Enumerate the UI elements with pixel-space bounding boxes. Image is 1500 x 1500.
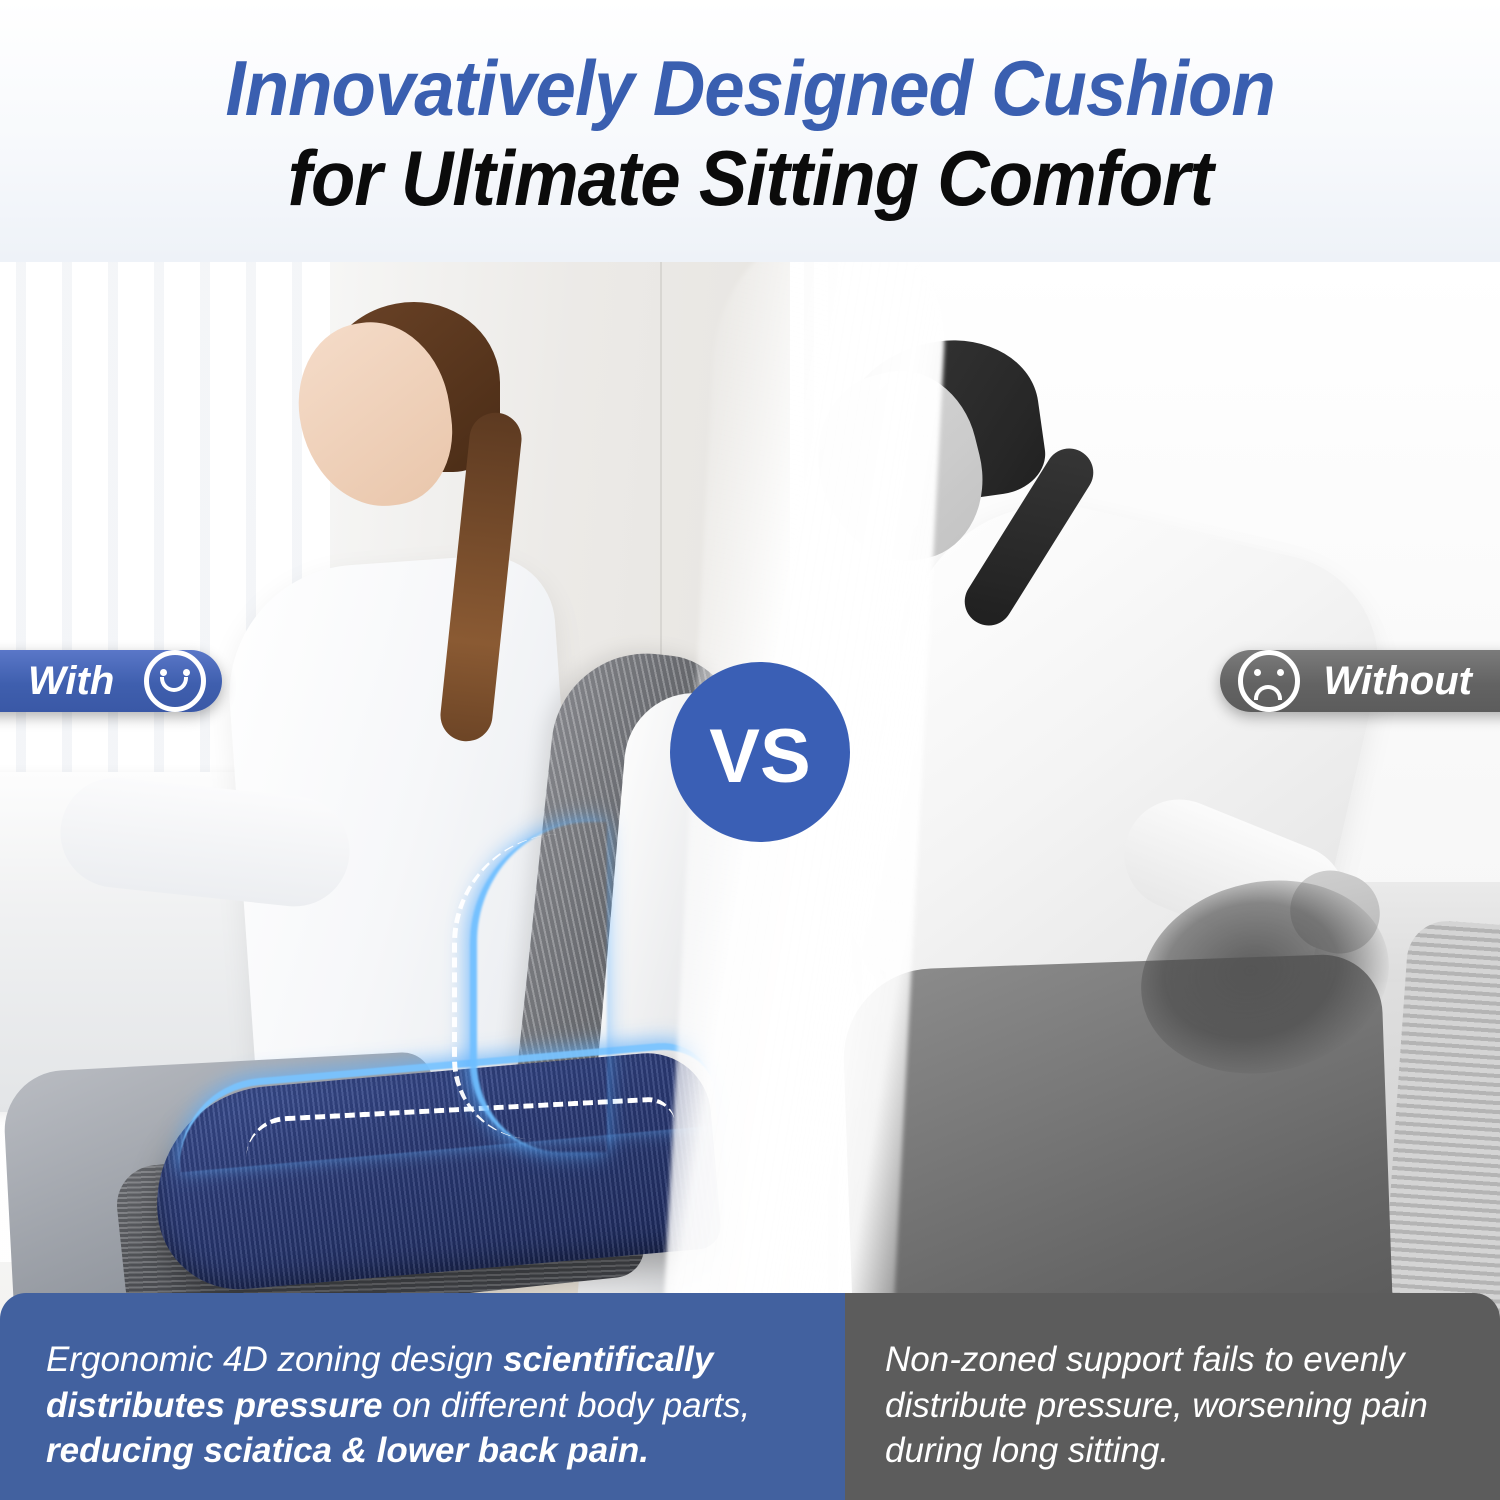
happy-face-icon	[144, 650, 206, 712]
badge-without-label: Without	[1324, 659, 1472, 704]
caption-with-cushion: Ergonomic 4D zoning design scientificall…	[0, 1293, 845, 1500]
vs-badge: VS	[665, 657, 855, 847]
caption-without-cushion: Non-zoned support fails to evenly distri…	[845, 1293, 1500, 1500]
caption-bar: Ergonomic 4D zoning design scientificall…	[0, 1293, 1500, 1500]
svg-text:VS: VS	[709, 714, 810, 799]
badge-with: With	[0, 650, 222, 712]
headline-block: Innovatively Designed Cushion for Ultima…	[0, 0, 1500, 262]
product-comparison-poster: Innovatively Designed Cushion for Ultima…	[0, 0, 1500, 1500]
headline-line-2: for Ultimate Sitting Comfort	[287, 139, 1212, 219]
headline-line-1: Innovatively Designed Cushion	[225, 49, 1274, 129]
badge-without: Without	[1220, 650, 1500, 712]
badge-with-label: With	[28, 659, 114, 704]
sad-face-icon	[1238, 650, 1300, 712]
